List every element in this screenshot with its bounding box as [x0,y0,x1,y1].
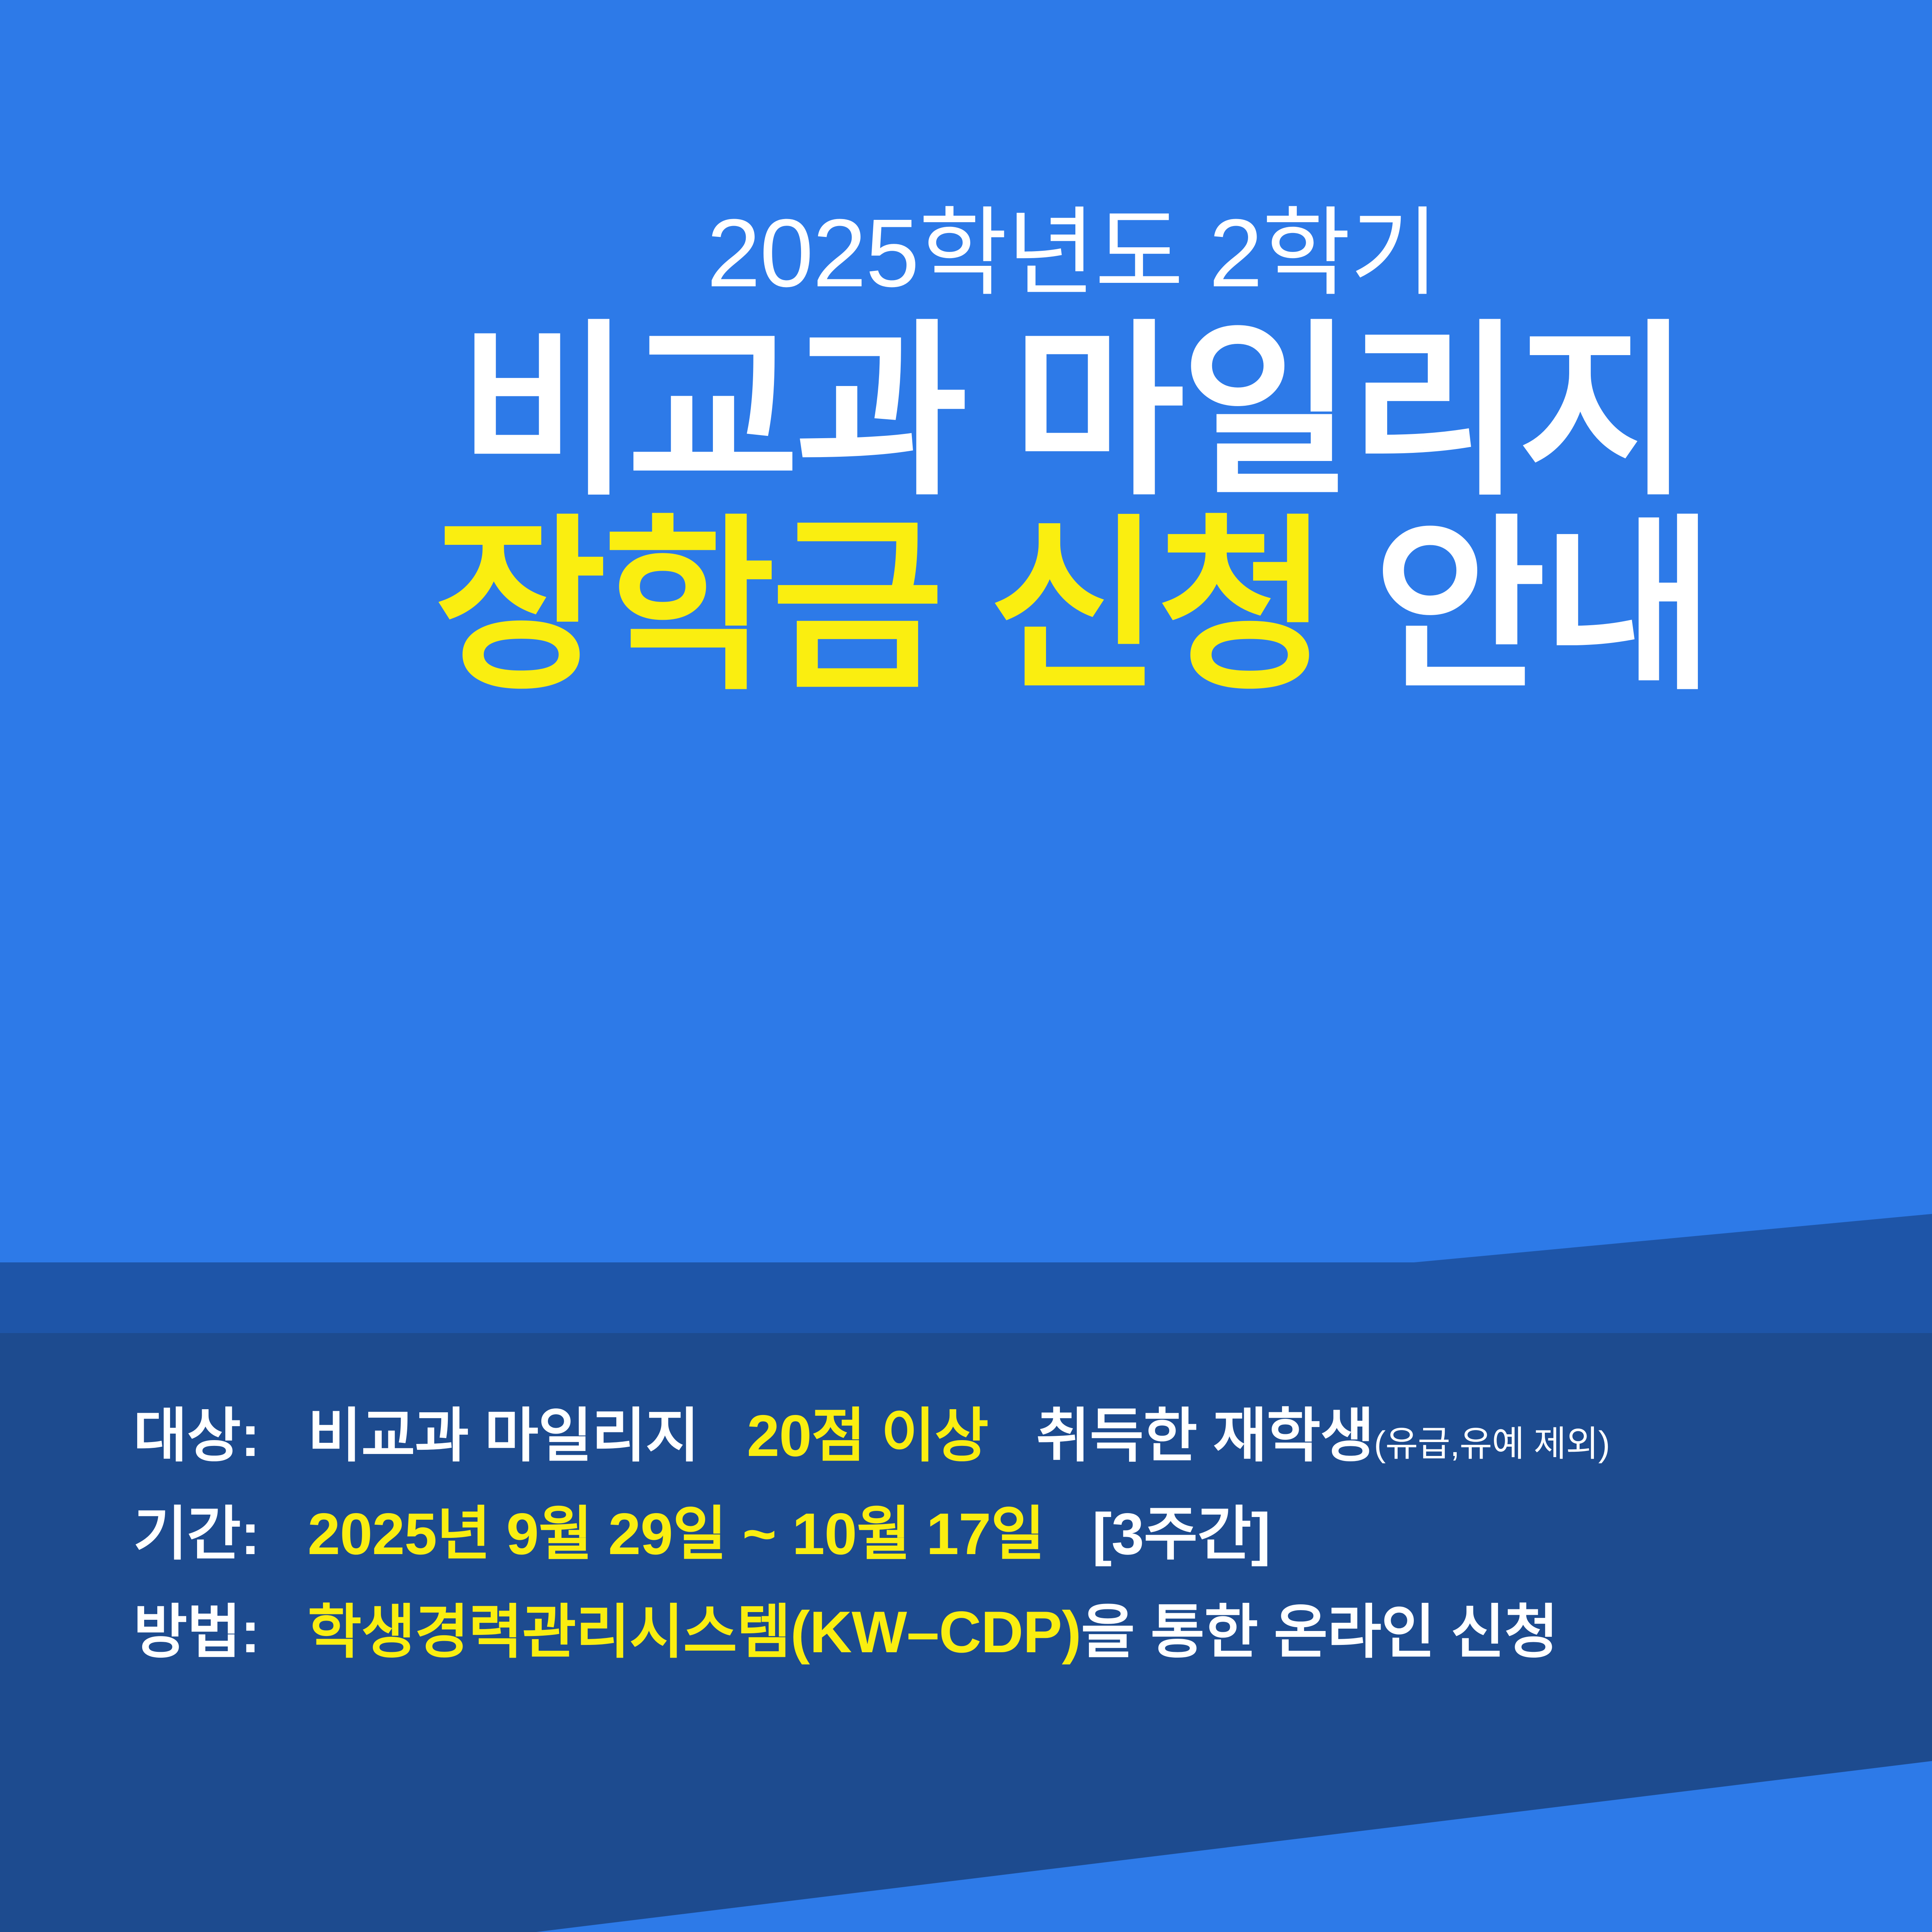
hero-headline-tail: 안내 [1374,502,1711,711]
details-block: 대상: 비교과 마일리지 20점 이상 취득한 재학생(유급,유예 제외) 기간… [133,1406,1932,1662]
detail-row-method: 방법: 학생경력관리시스템(KW–CDP)을 통한 온라인 신청 [133,1603,1932,1662]
detail-label-method: 방법: [133,1599,260,1665]
hero-headline-secondary: 장학금 신청 안내 [0,504,1932,710]
detail-method-system: 학생경력관리시스템(KW–CDP) [308,1599,1081,1665]
detail-method-text: 을 통한 온라인 신청 [1081,1599,1558,1665]
hero-headline-primary: 비교과 마일리지 [0,309,1932,515]
poster-canvas: 2025학년도 2학기 비교과 마일리지 장학금 신청 안내 대상: 비교과 마… [0,0,1932,1932]
hero-title-block: 2025학년도 2학기 비교과 마일리지 장학금 신청 안내 [0,201,1932,710]
detail-row-eligibility: 대상: 비교과 마일리지 20점 이상 취득한 재학생(유급,유예 제외) [133,1406,1932,1465]
detail-row-period: 기간: 2025년 9월 29일 ~ 10월 17일 [3주간] [133,1505,1932,1563]
detail-target-highlight: 20점 이상 [747,1403,988,1469]
hero-eyebrow: 2025학년도 2학기 [0,201,1932,305]
detail-period-highlight: 2025년 9월 29일 ~ 10월 17일 [308,1501,1044,1567]
detail-label-target: 대상: [133,1403,260,1469]
detail-target-note: (유급,유예 제외) [1374,1424,1610,1464]
detail-period-duration: [3주간] [1092,1501,1270,1567]
hero-headline-highlight: 장학금 신청 [434,502,1325,711]
detail-target-text-b: 취득한 재학생 [1036,1403,1374,1469]
detail-label-period: 기간: [133,1501,260,1567]
detail-target-text-a: 비교과 마일리지 [308,1403,699,1469]
